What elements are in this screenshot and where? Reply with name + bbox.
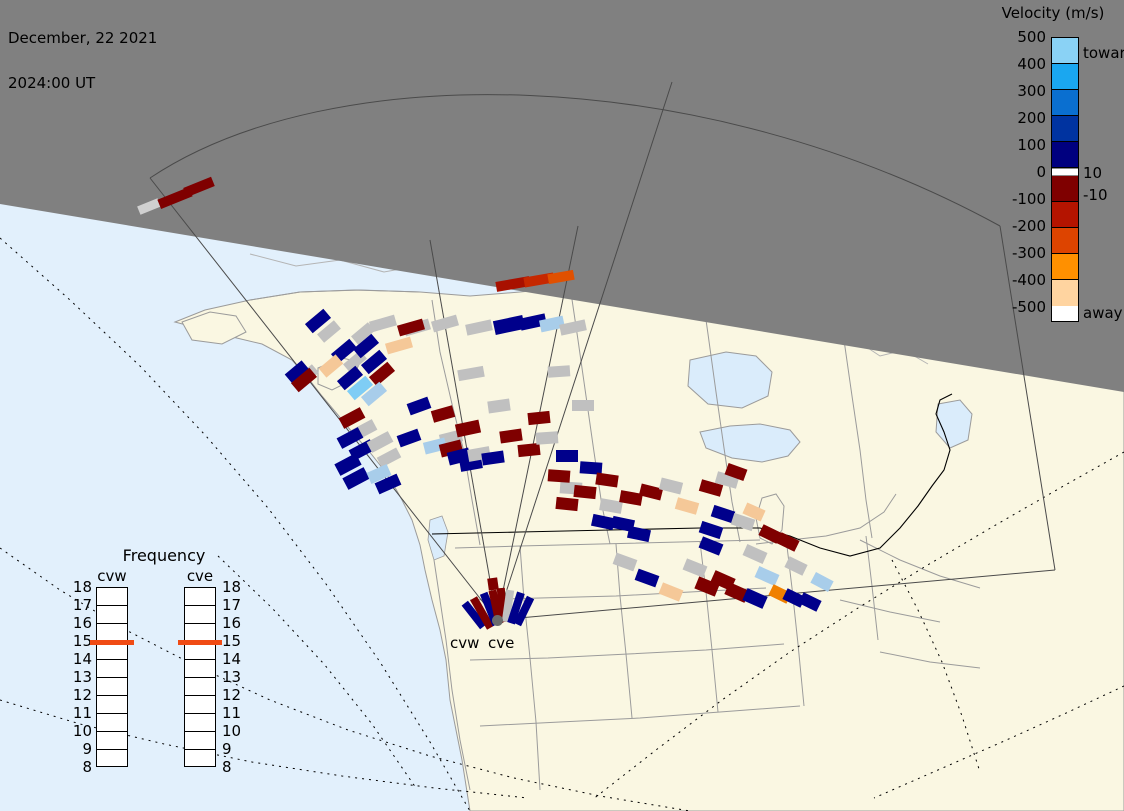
frequency-cell: [185, 732, 215, 750]
frequency-cell: [97, 588, 127, 606]
colorbar-tick-6: -100: [984, 190, 1046, 217]
frequency-tick-11: 11: [66, 705, 92, 723]
frequency-tick-14: 14: [66, 651, 92, 669]
frequency-tick-8: 8: [66, 759, 92, 777]
date-label: December, 22 2021: [8, 31, 157, 46]
frequency-tick-18: 18: [222, 579, 248, 597]
frequency-tick-17: 17: [66, 597, 92, 615]
colorbar-tick-8: -300: [984, 244, 1046, 271]
frequency-cell: [97, 714, 127, 732]
colorbar-tick-4: 100: [984, 136, 1046, 163]
frequency-cve-bar: [184, 587, 216, 767]
colorbar-tick-1: 400: [984, 55, 1046, 82]
frequency-tick-9: 9: [66, 741, 92, 759]
colorbar-tick-3: 200: [984, 109, 1046, 136]
colorbar-tick-0: 500: [984, 28, 1046, 55]
colorbar-segment-away-4: [1052, 280, 1078, 306]
frequency-legend: Frequency cvw 18171615141312111098 cve 1…: [84, 546, 244, 792]
colorbar-tick-labels: 5004003002001000-100-200-300-400-500: [984, 28, 1046, 325]
radar-map-screenshot: December, 22 2021 2024:00 UT Velocity (m…: [0, 0, 1124, 811]
colorbar-segment-toward-2: [1052, 90, 1078, 116]
frequency-tick-16: 16: [222, 615, 248, 633]
frequency-tick-10: 10: [66, 723, 92, 741]
velocity-cell: [517, 443, 540, 457]
velocity-cell: [555, 497, 578, 511]
velocity-cell: [548, 469, 571, 483]
colorbar-tick-7: -200: [984, 217, 1046, 244]
velocity-cell: [573, 485, 596, 499]
frequency-tick-16: 16: [66, 615, 92, 633]
frequency-title: Frequency: [84, 546, 244, 565]
colorbar-segment-away-0: [1052, 176, 1078, 202]
frequency-cell: [185, 606, 215, 624]
colorbar-segment-away-3: [1052, 254, 1078, 280]
frequency-cvw-bar: [96, 587, 128, 767]
frequency-cell: [97, 606, 127, 624]
frequency-cell: [185, 660, 215, 678]
frequency-marker-cvw: [90, 640, 134, 645]
colorbar-segment-toward-1: [1052, 64, 1078, 90]
colorbar-segment-toward-3: [1052, 116, 1078, 142]
frequency-tick-18: 18: [66, 579, 92, 597]
colorbar-segment-away-1: [1052, 202, 1078, 228]
colorbar-segment-toward-4: [1052, 142, 1078, 168]
velocity-cell: [580, 461, 603, 475]
frequency-tick-9: 9: [222, 741, 248, 759]
frequency-cell: [185, 750, 215, 768]
frequency-marker-cve: [178, 640, 222, 645]
frequency-cell: [97, 750, 127, 768]
frequency-cell: [97, 660, 127, 678]
colorbar-segment-away-2: [1052, 228, 1078, 254]
frequency-tick-13: 13: [222, 669, 248, 687]
colorbar-toward-label: toward: [1083, 44, 1124, 62]
colorbar-segment-toward-0: [1052, 38, 1078, 64]
frequency-tick-15: 15: [222, 633, 248, 651]
velocity-colorbar: Velocity (m/s) 5004003002001000-100-200-…: [988, 4, 1124, 334]
frequency-cvw-ticks: 18171615141312111098: [66, 579, 92, 777]
frequency-column-cve-label: cve: [180, 567, 220, 585]
frequency-tick-12: 12: [222, 687, 248, 705]
velocity-cell: [527, 411, 550, 425]
colorbar-positive-threshold-label: 10: [1083, 164, 1102, 182]
frequency-column-cvw-label: cvw: [92, 567, 132, 585]
frequency-cell: [185, 696, 215, 714]
frequency-cell: [185, 714, 215, 732]
frequency-tick-17: 17: [222, 597, 248, 615]
colorbar-zero-gap: [1052, 168, 1078, 176]
frequency-tick-11: 11: [222, 705, 248, 723]
frequency-cell: [185, 678, 215, 696]
velocity-cell: [548, 365, 571, 378]
radar-site-marker: [492, 615, 503, 626]
frequency-tick-10: 10: [222, 723, 248, 741]
frequency-tick-15: 15: [66, 633, 92, 651]
frequency-cell: [97, 678, 127, 696]
timestamp-block: December, 22 2021 2024:00 UT: [8, 1, 157, 121]
colorbar-tick-10: -500: [984, 298, 1046, 325]
frequency-cell: [97, 696, 127, 714]
velocity-cell: [572, 400, 594, 411]
frequency-tick-14: 14: [222, 651, 248, 669]
colorbar-tick-2: 300: [984, 82, 1046, 109]
radar-beam-cell: [487, 577, 499, 590]
radar-site-label-cve: cve: [488, 634, 514, 652]
colorbar-tick-5: 0: [984, 163, 1046, 190]
colorbar-gradient: [1051, 37, 1079, 322]
frequency-cell: [185, 588, 215, 606]
frequency-cell: [97, 732, 127, 750]
velocity-cell: [536, 431, 559, 445]
time-label: 2024:00 UT: [8, 76, 157, 91]
colorbar-tick-9: -400: [984, 271, 1046, 298]
radar-site-label-cvw: cvw: [450, 634, 479, 652]
colorbar-away-label: away: [1083, 304, 1123, 322]
frequency-tick-8: 8: [222, 759, 248, 777]
colorbar-title: Velocity (m/s): [988, 4, 1118, 22]
frequency-tick-12: 12: [66, 687, 92, 705]
colorbar-negative-threshold-label: -10: [1083, 186, 1108, 204]
velocity-cell: [556, 450, 578, 462]
frequency-cve-ticks: 18171615141312111098: [222, 579, 248, 777]
frequency-tick-13: 13: [66, 669, 92, 687]
